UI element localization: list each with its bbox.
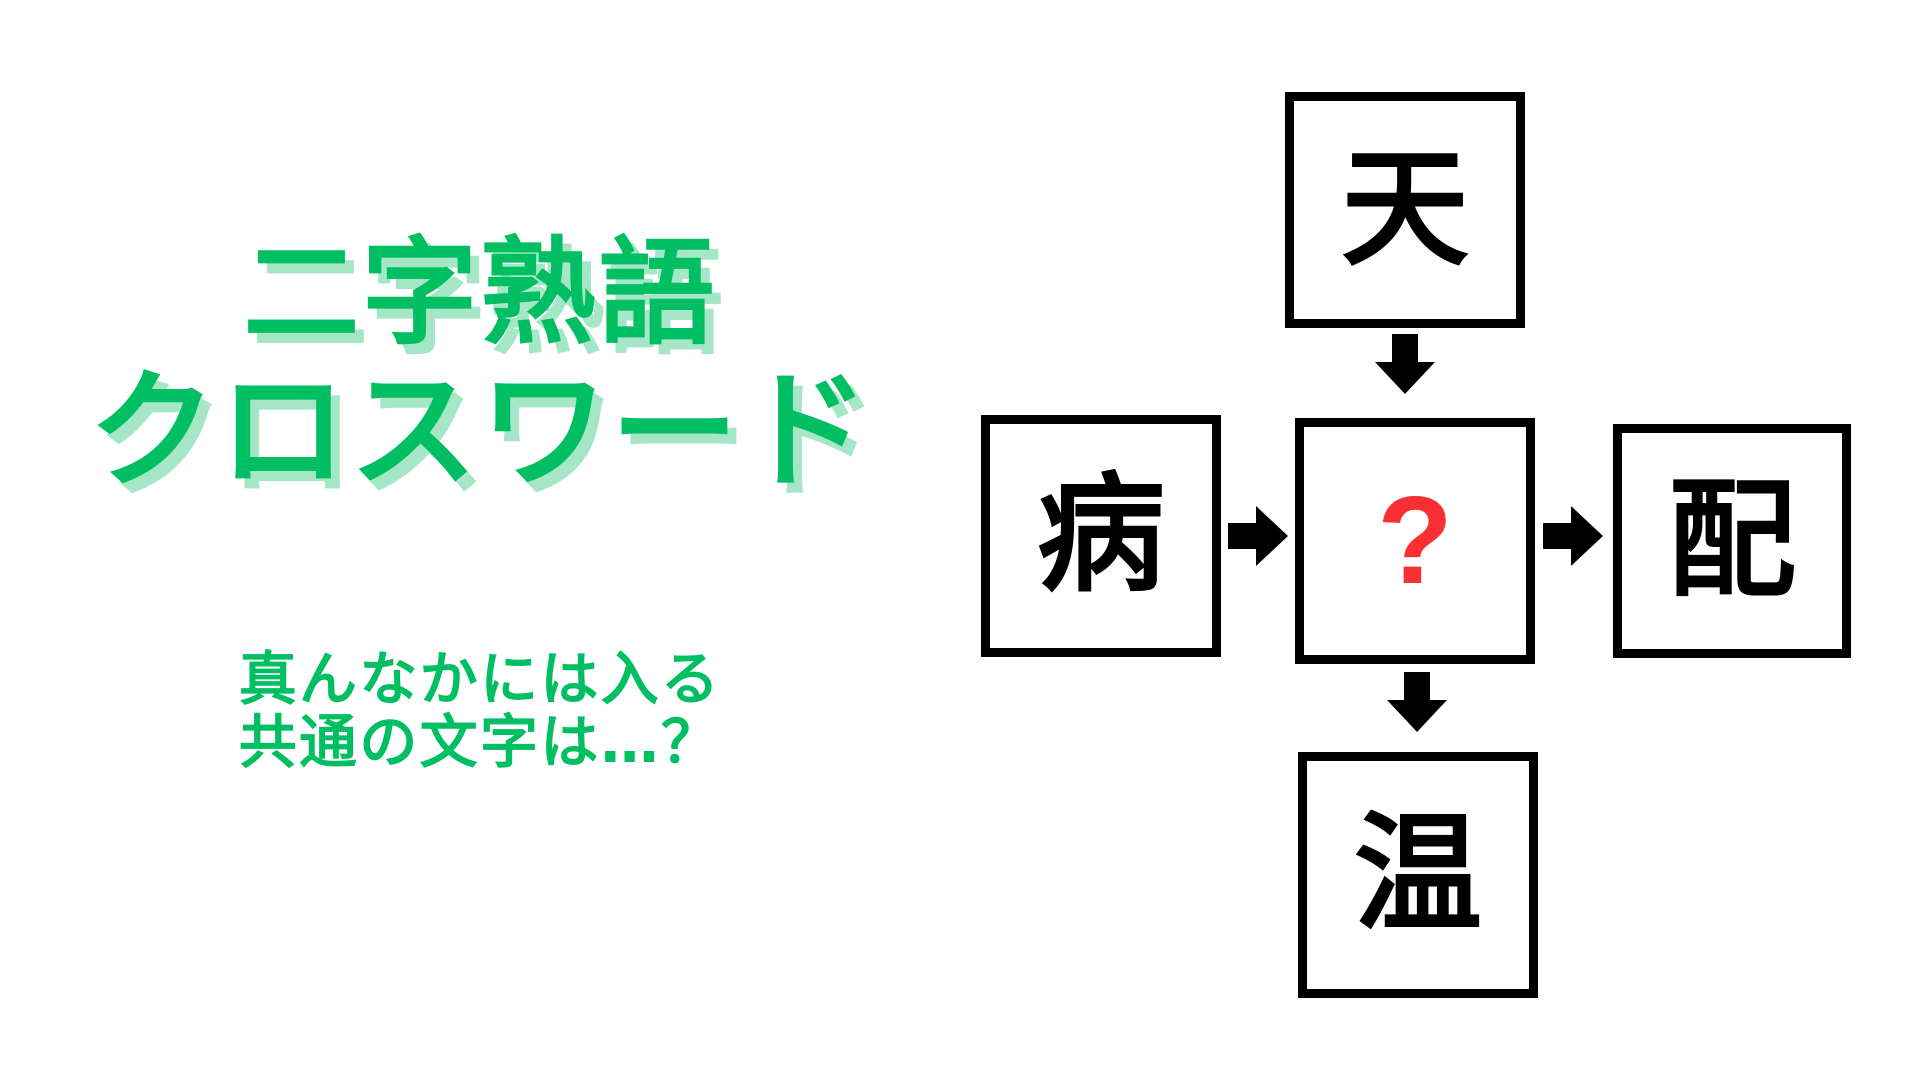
puzzle-cell-top[interactable]: 天 (1285, 92, 1525, 328)
arrow-right-icon-center-to-right (1543, 505, 1605, 567)
arrow-head (1387, 700, 1447, 732)
arrow-shaft (1404, 672, 1430, 700)
arrow-head (1375, 362, 1435, 394)
arrow-shaft (1543, 523, 1571, 549)
subtitle-block: 真んなかには入る 共通の文字は…？ (0, 648, 960, 773)
subtitle-line-2: 共通の文字は…？ (0, 711, 960, 774)
title-block: 二字熟語 クロスワード (0, 236, 960, 496)
arrow-head (1256, 506, 1288, 566)
puzzle-cell-right[interactable]: 配 (1613, 424, 1851, 658)
arrow-shaft (1228, 523, 1256, 549)
puzzle-cell-bottom[interactable]: 温 (1298, 752, 1538, 998)
slide-canvas: 二字熟語 クロスワード 真んなかには入る 共通の文字は…？ 天 病 ? (0, 0, 1920, 1080)
puzzle-cell-left[interactable]: 病 (981, 415, 1221, 657)
puzzle-cell-left-char: 病 (1037, 472, 1165, 600)
subtitle-line-1: 真んなかには入る (0, 648, 960, 711)
crossword-diagram: 天 病 ? 配 温 (960, 0, 1920, 1080)
puzzle-cell-center-unknown-char: ? (1377, 479, 1453, 603)
arrow-down-icon-center-to-bottom (1386, 672, 1448, 734)
arrow-shaft (1392, 334, 1418, 362)
arrow-right-icon-left-to-center (1228, 505, 1290, 567)
puzzle-cell-bottom-char: 温 (1354, 811, 1482, 939)
puzzle-cell-right-char: 配 (1668, 477, 1796, 605)
arrow-down-icon-top-to-center (1374, 334, 1436, 396)
arrow-head (1571, 506, 1603, 566)
puzzle-cell-center[interactable]: ? (1295, 418, 1535, 664)
title-line-2: クロスワード (0, 368, 960, 496)
title-line-1: 二字熟語 (0, 236, 960, 352)
puzzle-cell-top-char: 天 (1341, 146, 1469, 274)
